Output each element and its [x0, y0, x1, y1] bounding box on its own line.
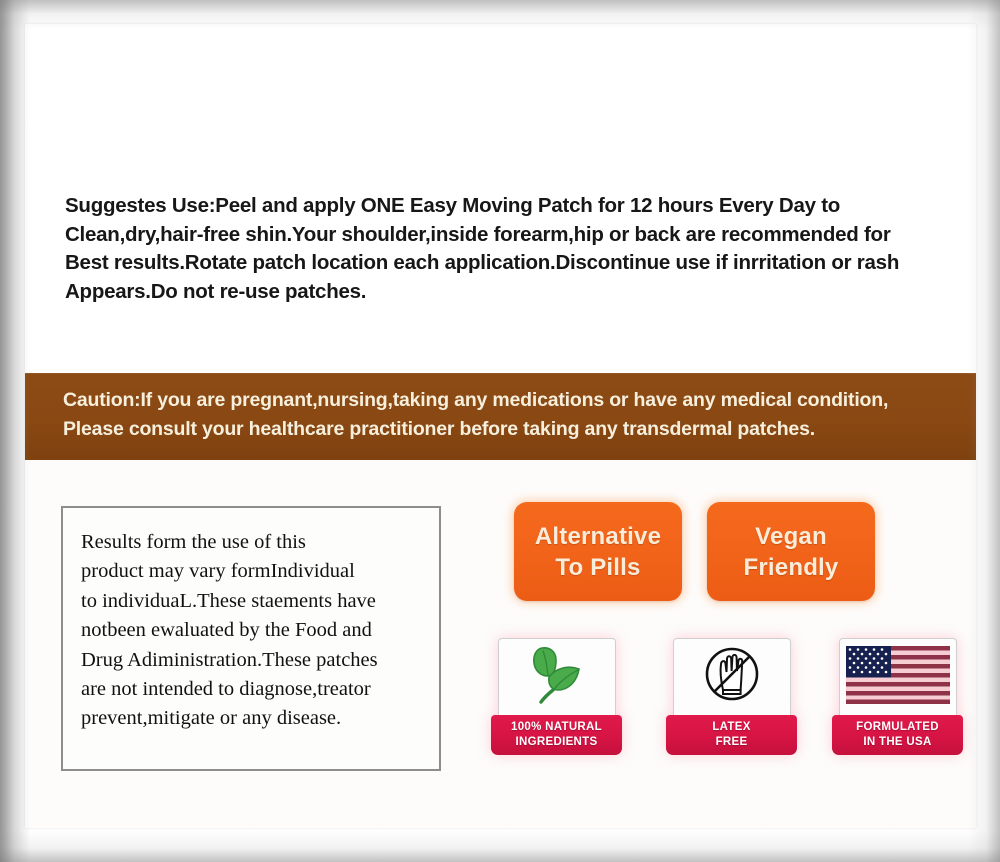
suggested-use-line-3: Best results.Rotate patch location each …: [65, 249, 958, 278]
suggested-use-line-4: Appears.Do not re-use patches.: [65, 278, 958, 307]
disclaimer-box: Results form the use of this product may…: [61, 506, 441, 771]
trust-badge-natural-line-2: INGREDIENTS: [516, 735, 598, 750]
product-label-page: Suggestes Use:Peel and apply ONE Easy Mo…: [0, 0, 1000, 862]
trust-badge-icon-area: [673, 638, 791, 715]
trust-badge-latex-free: LATEX FREE: [666, 638, 797, 755]
trust-badge-natural-ingredients: 100% NATURAL INGREDIENTS: [491, 638, 622, 755]
badge-vegan-line-1: Vegan: [755, 521, 827, 552]
lower-section: Results form the use of this product may…: [25, 460, 976, 828]
trust-badge-band-natural: 100% NATURAL INGREDIENTS: [491, 715, 622, 755]
trust-badge-band-latex: LATEX FREE: [666, 715, 797, 755]
badge-vegan-friendly: Vegan Friendly: [707, 502, 875, 601]
disclaimer-line-5: Drug Adiministration.These patches: [81, 646, 425, 675]
trust-badge-natural-line-1: 100% NATURAL: [511, 720, 602, 735]
disclaimer-line-6: are not intended to diagnose,treator: [81, 675, 425, 704]
trust-badge-icon-area: [839, 638, 957, 715]
caution-line-2: Please consult your healthcare practitio…: [63, 415, 976, 444]
suggested-use-line-2: Clean,dry,hair-free shin.Your shoulder,i…: [65, 221, 958, 250]
badge-alternative-to-pills: Alternative To Pills: [514, 502, 682, 601]
disclaimer-line-1: Results form the use of this: [81, 528, 425, 557]
disclaimer-line-4: notbeen ewaluated by the Food and: [81, 616, 425, 645]
usa-flag-icon: [846, 646, 950, 709]
suggested-use-line-1: Suggestes Use:Peel and apply ONE Easy Mo…: [65, 192, 958, 221]
trust-badge-usa-line-2: IN THE USA: [863, 735, 931, 750]
caution-line-1: Caution:If you are pregnant,nursing,taki…: [63, 386, 976, 415]
badge-alternative-line-1: Alternative: [535, 521, 661, 552]
disclaimer-line-3: to individuaL.These staements have: [81, 587, 425, 616]
trust-badge-icon-area: [498, 638, 616, 715]
suggested-use-block: Suggestes Use:Peel and apply ONE Easy Mo…: [25, 192, 976, 364]
disclaimer-line-2: product may vary formIndividual: [81, 557, 425, 586]
product-label-card: Suggestes Use:Peel and apply ONE Easy Mo…: [25, 24, 976, 828]
trust-badge-formulated-usa: FORMULATED IN THE USA: [832, 638, 963, 755]
caution-banner: Caution:If you are pregnant,nursing,taki…: [25, 373, 976, 460]
trust-badge-usa-line-1: FORMULATED: [856, 720, 939, 735]
trust-badge-latex-line-1: LATEX: [712, 720, 750, 735]
leaf-icon: [526, 646, 588, 709]
trust-badge-band-usa: FORMULATED IN THE USA: [832, 715, 963, 755]
card-blank-top-area: [25, 24, 976, 192]
trust-badge-latex-line-2: FREE: [716, 735, 748, 750]
disclaimer-line-7: prevent,mitigate or any disease.: [81, 704, 425, 733]
badge-alternative-line-2: To Pills: [555, 552, 640, 583]
badge-vegan-line-2: Friendly: [744, 552, 839, 583]
no-latex-glove-icon: [701, 645, 763, 710]
